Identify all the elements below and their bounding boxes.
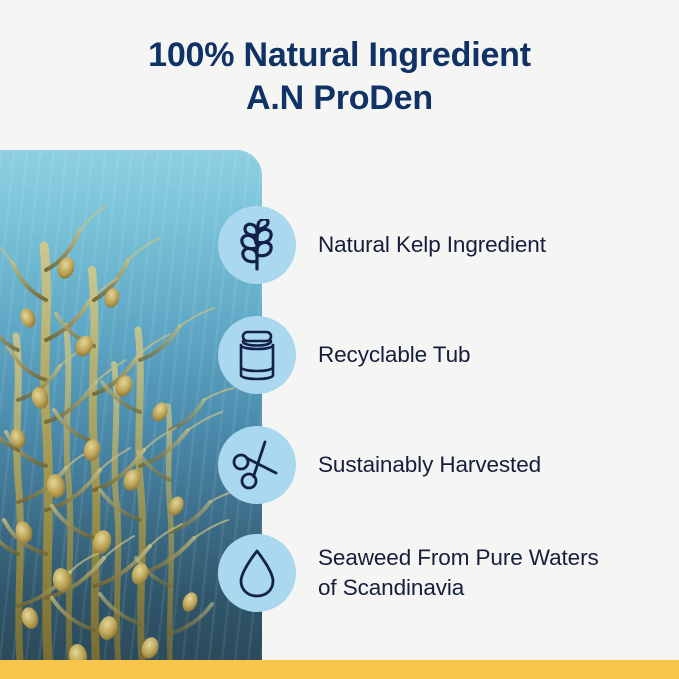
seaweed-leaf-icon: [218, 206, 296, 284]
page-title-line-1: 100% Natural Ingredient: [0, 34, 679, 77]
feature-label: Seaweed From Pure Waters of Scandinavia: [318, 543, 599, 603]
bottom-accent-bar: [0, 660, 679, 679]
feature-item-recyclable-tub: Recyclable Tub: [218, 315, 470, 395]
feature-item-sustainably-harvested: Sustainably Harvested: [218, 425, 541, 505]
jar-tub-icon: [218, 316, 296, 394]
scissors-icon: [218, 426, 296, 504]
product-feature-infographic: 100% Natural Ingredient A.N ProDen: [0, 0, 679, 679]
feature-item-natural-kelp: Natural Kelp Ingredient: [218, 205, 546, 285]
feature-label: Recyclable Tub: [318, 340, 470, 370]
page-title: 100% Natural Ingredient A.N ProDen: [0, 34, 679, 120]
feature-label: Natural Kelp Ingredient: [318, 230, 546, 260]
feature-label: Sustainably Harvested: [318, 450, 541, 480]
water-drop-icon: [218, 534, 296, 612]
feature-item-pure-waters: Seaweed From Pure Waters of Scandinavia: [218, 533, 599, 613]
page-title-line-2: A.N ProDen: [0, 77, 679, 120]
